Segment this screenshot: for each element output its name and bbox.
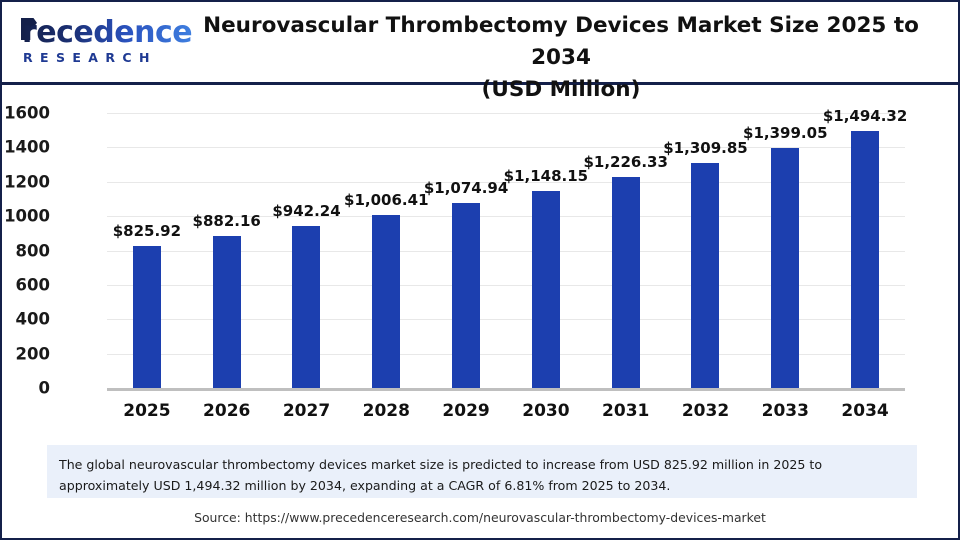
bar <box>851 131 879 388</box>
y-axis-tick-label: 1600 <box>0 104 50 123</box>
caption-text: The global neurovascular thrombectomy de… <box>59 454 905 496</box>
bar-slot: $882.16 <box>187 113 267 388</box>
caption-box: The global neurovascular thrombectomy de… <box>47 445 917 498</box>
bar-slot: $1,226.33 <box>586 113 666 388</box>
y-axis-tick-label: 0 <box>0 379 50 398</box>
bar-slot: $1,399.05 <box>745 113 825 388</box>
logo-wordmark: recedence <box>22 15 192 50</box>
x-axis-tick-label: 2030 <box>506 401 586 421</box>
bar-value-label: $1,148.15 <box>504 167 588 185</box>
bar <box>372 215 400 388</box>
bar-slot: $1,074.94 <box>426 113 506 388</box>
bar-value-label: $825.92 <box>113 222 181 240</box>
bar-slot: $942.24 <box>267 113 347 388</box>
page-title-line1: Neurovascular Thrombectomy Devices Marke… <box>203 13 919 70</box>
bar-chart: 02004006008001000120014001600 $825.92$88… <box>2 85 958 430</box>
y-axis-tick-label: 400 <box>0 310 50 329</box>
y-axis-tick-label: 1200 <box>0 172 50 191</box>
bar-value-label: $1,399.05 <box>743 124 827 142</box>
x-axis-tick-label: 2032 <box>666 401 746 421</box>
logo-subtitle: RESEARCH <box>23 50 157 65</box>
bar-value-label: $1,309.85 <box>663 139 747 157</box>
bar-slot: $1,494.32 <box>825 113 905 388</box>
bar <box>532 191 560 388</box>
bar <box>213 236 241 388</box>
bar-slot: $1,006.41 <box>346 113 426 388</box>
source-note: Source: https://www.precedenceresearch.c… <box>2 510 958 525</box>
x-axis-tick-label: 2033 <box>745 401 825 421</box>
x-axis-tick-label: 2026 <box>187 401 267 421</box>
bar-slot: $1,309.85 <box>666 113 746 388</box>
x-axis-tick-label: 2034 <box>825 401 905 421</box>
bar-value-label: $1,494.32 <box>823 107 907 125</box>
precedence-research-logo: recedence RESEARCH <box>16 13 166 71</box>
chart-infographic: recedence RESEARCH Neurovascular Thrombe… <box>0 0 960 540</box>
bar <box>771 148 799 388</box>
y-axis-tick-label: 200 <box>0 344 50 363</box>
plot-area: $825.92$882.16$942.24$1,006.41$1,074.94$… <box>107 113 905 388</box>
y-axis-tick-label: 1400 <box>0 138 50 157</box>
x-axis-tick-label: 2027 <box>267 401 347 421</box>
y-axis-tick-label: 1000 <box>0 207 50 226</box>
bar-value-label: $882.16 <box>193 212 261 230</box>
bar-slot: $825.92 <box>107 113 187 388</box>
x-axis-tick-label: 2025 <box>107 401 187 421</box>
bar-slot: $1,148.15 <box>506 113 586 388</box>
bar <box>452 203 480 388</box>
bar-value-label: $942.24 <box>272 202 340 220</box>
y-axis-tick-label: 600 <box>0 275 50 294</box>
bar <box>612 177 640 388</box>
y-axis-tick-label: 800 <box>0 241 50 260</box>
bar-value-label: $1,006.41 <box>344 191 428 209</box>
bar <box>133 246 161 388</box>
x-axis-tick-label: 2028 <box>346 401 426 421</box>
bar <box>691 163 719 388</box>
x-axis-tick-label: 2029 <box>426 401 506 421</box>
bar-value-label: $1,074.94 <box>424 179 508 197</box>
x-axis-line <box>107 388 905 391</box>
x-axis-tick-label: 2031 <box>586 401 666 421</box>
bar-value-label: $1,226.33 <box>583 153 667 171</box>
bar <box>292 226 320 388</box>
header: recedence RESEARCH Neurovascular Thrombe… <box>2 2 958 85</box>
